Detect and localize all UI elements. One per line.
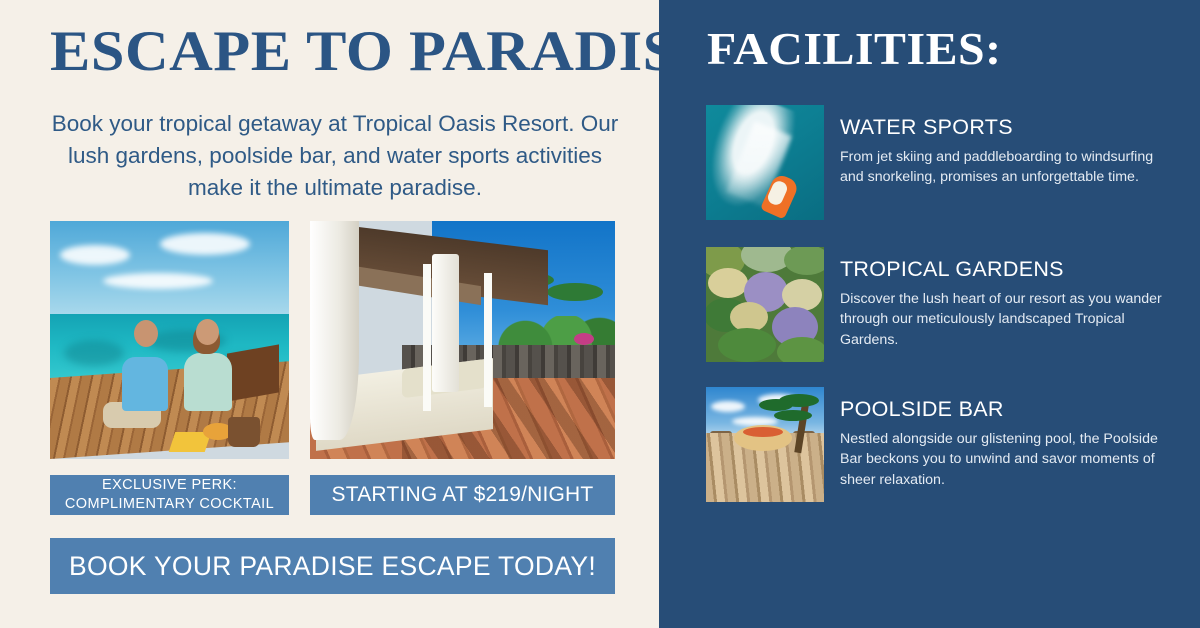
couple-on-dock-photo [50,221,289,459]
water-sports-thumbnail [706,105,824,220]
deck-chair [227,345,279,402]
canopy-curtain [310,221,359,440]
facility-title: WATER SPORTS [840,115,1176,140]
facility-title: POOLSIDE BAR [840,397,1176,422]
cloud-shape [711,401,745,412]
sky-region [50,221,289,316]
bougainvillea-flower [574,333,594,345]
ice-bucket [228,417,260,447]
facilities-panel: FACILITIES: WATER SPORTS From jet skiing… [659,0,1200,628]
man-body [122,357,168,411]
facility-description: Discover the lush heart of our resort as… [840,289,1176,350]
facility-text: POOLSIDE BAR Nestled alongside our glist… [840,387,1176,502]
facilities-heading: FACILITIES: [707,22,1002,75]
cactus-shape [782,279,822,311]
exclusive-perk-badge: EXCLUSIVE PERK: COMPLIMENTARY COCKTAIL [50,475,289,515]
reef-shape [64,340,124,366]
promotional-flyer: ESCAPE TO PARADISE Book your tropical ge… [0,0,1200,628]
facility-description: Nestled alongside our glistening pool, t… [840,429,1176,490]
left-panel: ESCAPE TO PARADISE Book your tropical ge… [0,0,659,628]
facility-item: POOLSIDE BAR Nestled alongside our glist… [706,387,1176,502]
palm-frond [759,399,793,411]
agave-shape [718,328,776,362]
page-title: ESCAPE TO PARADISE [50,22,718,82]
cabana-daybed-photo [310,221,615,459]
facility-title: TROPICAL GARDENS [840,257,1176,282]
perk-badge-line1: EXCLUSIVE PERK: [65,476,274,495]
succulent-cluster [784,247,824,275]
book-now-button[interactable]: BOOK YOUR PARADISE ESCAPE TODAY! [50,538,615,594]
intro-paragraph: Book your tropical getaway at Tropical O… [50,108,620,204]
bed-post [484,273,492,406]
facility-description: From jet skiing and paddleboarding to wi… [840,147,1176,188]
bed-post [423,264,431,412]
man-head [134,320,158,347]
price-badge: STARTING AT $219/NIGHT [310,475,615,515]
woman-body [184,353,232,411]
poolside-bar-thumbnail [706,387,824,502]
palm-frond [547,283,603,301]
facility-item: WATER SPORTS From jet skiing and paddleb… [706,105,1176,220]
tropical-gardens-thumbnail [706,247,824,362]
facility-item: TROPICAL GARDENS Discover the lush heart… [706,247,1176,362]
cactus-shape [708,268,748,298]
facility-text: TROPICAL GARDENS Discover the lush heart… [840,247,1176,362]
perk-badge-line2: COMPLIMENTARY COCKTAIL [65,495,274,514]
palm-frond [774,410,812,421]
cloud-shape [60,245,130,265]
agave-shape [777,337,824,362]
canopy-curtain [432,254,459,392]
woman-head [196,319,219,345]
facility-text: WATER SPORTS From jet skiing and paddleb… [840,105,1176,220]
cloud-shape [160,233,250,255]
